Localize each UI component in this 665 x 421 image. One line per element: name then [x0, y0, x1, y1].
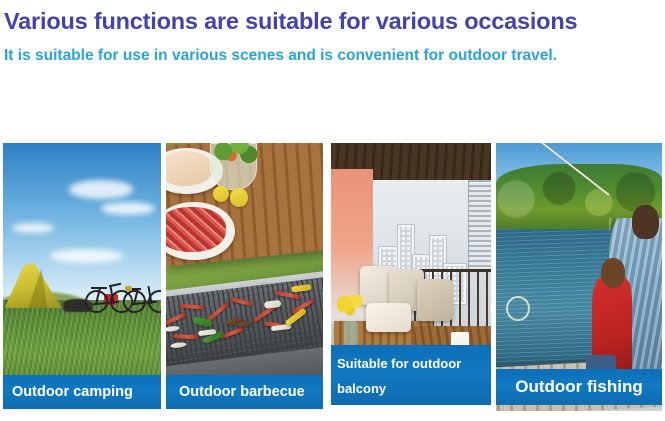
- header-block: Various functions are suitable for vario…: [4, 0, 659, 70]
- page-subtitle: It is suitable for use in various scenes…: [4, 38, 628, 70]
- caption-text: Outdoor fishing: [515, 377, 642, 396]
- panel-outdoor-fishing[interactable]: Outdoor fishing: [496, 143, 662, 411]
- page-title: Various functions are suitable for vario…: [4, 0, 659, 38]
- caption-outdoor-camping: Outdoor camping use: [3, 375, 161, 409]
- panel-outdoor-balcony[interactable]: Suitable for outdoor balcony: [331, 143, 491, 405]
- photo-outdoor-barbecue: [166, 143, 323, 409]
- panel-outdoor-barbecue[interactable]: Outdoor barbecue: [166, 143, 323, 409]
- caption-text-line2: balcony: [337, 376, 485, 401]
- caption-text: Outdoor camping use: [12, 384, 133, 409]
- caption-text: Outdoor barbecue: [179, 384, 305, 400]
- feature-panels-row: Outdoor camping use: [0, 143, 665, 413]
- panel-outdoor-camping[interactable]: Outdoor camping use: [3, 143, 161, 409]
- photo-outdoor-camping: [3, 143, 161, 409]
- caption-outdoor-fishing: Outdoor fishing: [496, 369, 662, 405]
- caption-outdoor-balcony: Suitable for outdoor balcony: [331, 345, 491, 405]
- caption-text-line1: Suitable for outdoor: [337, 351, 485, 376]
- caption-outdoor-barbecue: Outdoor barbecue: [166, 375, 323, 409]
- bicycle-right: [123, 283, 161, 313]
